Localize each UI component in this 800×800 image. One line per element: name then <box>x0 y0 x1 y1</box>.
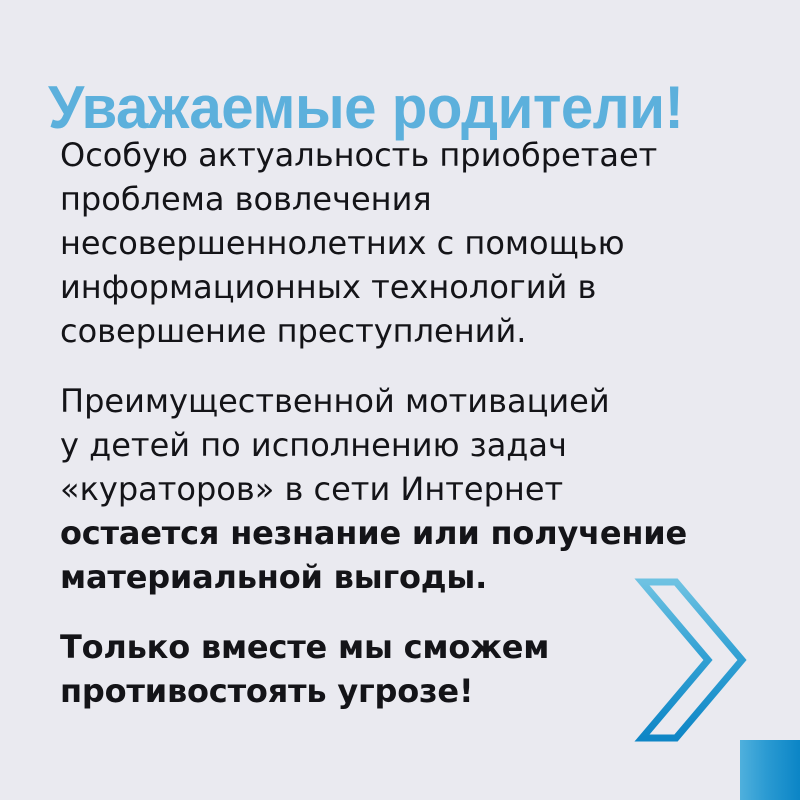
paragraph-2-line-3: «кураторов» в сети Интернет <box>60 467 720 511</box>
paragraph-2-line-1: Преимущественной мотивацией <box>60 379 720 423</box>
paragraph-2-line-5: материальной выгоды. <box>60 555 720 599</box>
paragraph-3-line-1: Только вместе мы сможем <box>60 625 720 669</box>
paragraph-1-line-2: проблема вовлечения <box>60 177 720 221</box>
paragraph-1-line-4: информационных технологий в <box>60 265 720 309</box>
paragraph-3: Только вместе мы сможем противостоять уг… <box>60 625 720 713</box>
paragraph-1: Особую актуальность приобретает проблема… <box>60 133 720 353</box>
paragraph-2-line-4: остается незнание или получение <box>60 511 720 555</box>
poster-canvas: Уважаемые родители! Особую актуальность … <box>0 0 800 800</box>
paragraph-1-line-5: совершение преступлений. <box>60 309 720 353</box>
corner-accent-square <box>740 740 800 800</box>
paragraph-2-line-2: у детей по исполнению задач <box>60 423 720 467</box>
paragraph-1-line-1: Особую актуальность приобретает <box>60 133 720 177</box>
paragraph-3-line-2: противостоять угрозе! <box>60 669 720 713</box>
paragraph-1-line-3: несовершеннолетних с помощью <box>60 221 720 265</box>
paragraph-2: Преимущественной мотивацией у детей по и… <box>60 379 720 599</box>
double-chevron-right-icon <box>630 570 760 750</box>
body-copy: Особую актуальность приобретает проблема… <box>60 133 720 713</box>
page-title: Уважаемые родители! <box>48 76 727 140</box>
